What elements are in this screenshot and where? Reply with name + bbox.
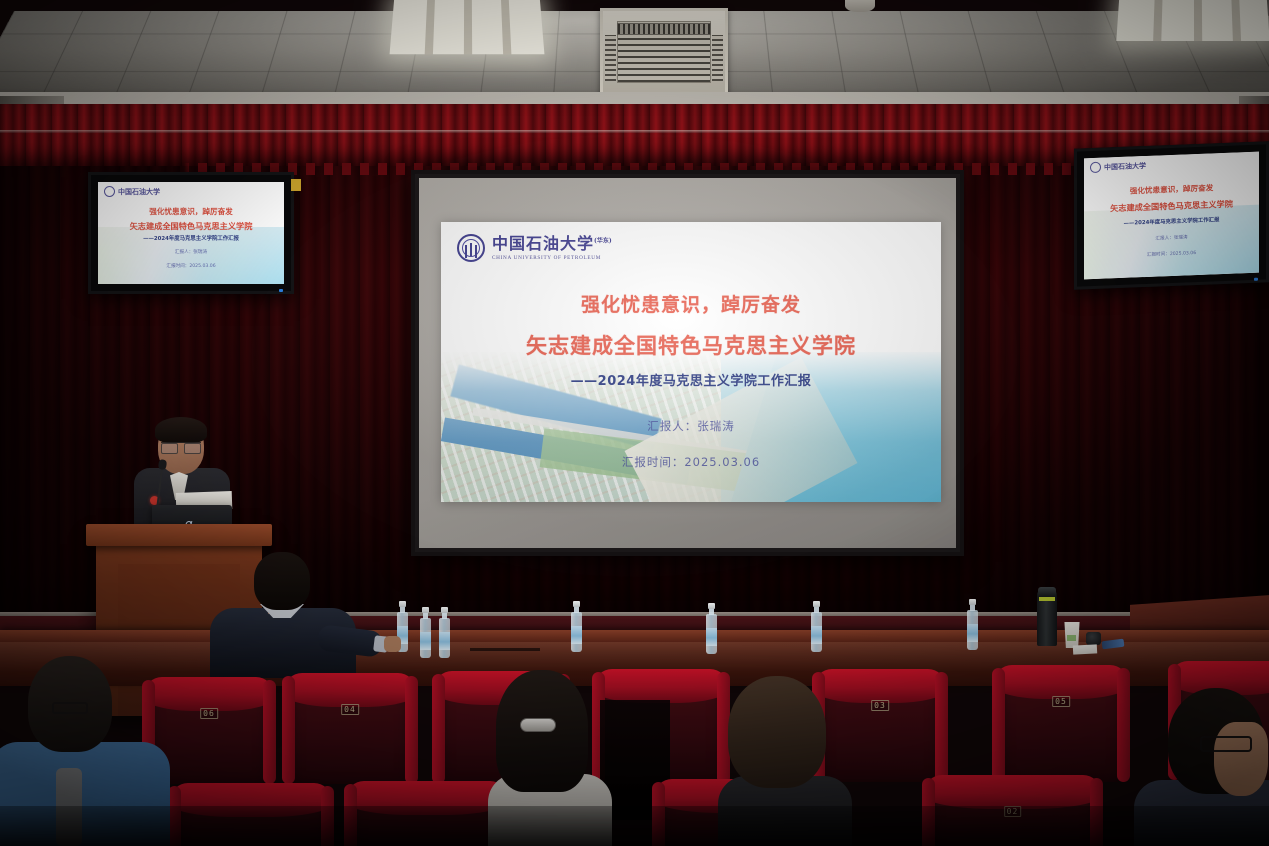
left-monitor-date: 汇报时间：2025.03.06 bbox=[98, 263, 284, 269]
left-monitor-title-1: 强化忧患意识，踔厉奋发 bbox=[98, 206, 284, 217]
left-monitor-title-2: 矢志建成全国特色马克思主义学院 bbox=[98, 220, 284, 232]
eyeglasses-icon bbox=[52, 702, 88, 714]
presentation-slide: 中国石油大学(华东) CHINA UNIVERSITY OF PETROLEUM… bbox=[441, 222, 941, 502]
water-bottle bbox=[571, 600, 582, 652]
slide-presenter: 汇报人：张瑞涛 bbox=[441, 418, 941, 434]
slide-title-line-2: 矢志建成全国特色马克思主义学院 bbox=[441, 330, 941, 360]
logo-english-name: CHINA UNIVERSITY OF PETROLEUM bbox=[492, 255, 612, 261]
seat-number: 05 bbox=[1052, 696, 1070, 707]
left-monitor-logo-text: 中国石油大学 bbox=[118, 187, 160, 197]
hair-clip-icon bbox=[520, 718, 556, 732]
seated-official bbox=[208, 552, 358, 672]
water-bottle bbox=[439, 606, 450, 658]
left-monitor-subtitle: ——2024年度马克思主义学院工作汇报 bbox=[98, 234, 284, 242]
ceiling-light-left bbox=[390, 0, 545, 54]
monitor-mount-bracket bbox=[291, 179, 301, 191]
right-monitor-logo: 中国石油大学 bbox=[1090, 160, 1146, 173]
audience-seat[interactable]: 05 bbox=[1000, 672, 1122, 782]
eyeglasses-icon bbox=[1200, 736, 1252, 752]
logo-cn-sup: (华东) bbox=[594, 237, 612, 244]
seat-number: 03 bbox=[871, 700, 889, 711]
face bbox=[1214, 722, 1268, 796]
left-side-monitor: 中国石油大学 强化忧患意识，踔厉奋发 矢志建成全国特色马克思主义学院 ——202… bbox=[88, 172, 294, 294]
monitor-power-led bbox=[279, 289, 283, 292]
speaker-hair bbox=[155, 417, 207, 443]
paper-cup bbox=[1063, 622, 1081, 648]
floor-shadow bbox=[0, 806, 1269, 846]
right-monitor-logo-text: 中国石油大学 bbox=[1104, 160, 1146, 172]
university-seal-icon bbox=[104, 186, 115, 197]
left-monitor-logo: 中国石油大学 bbox=[104, 186, 160, 197]
seat-number: 06 bbox=[200, 708, 218, 719]
table-seam bbox=[470, 648, 540, 651]
left-monitor-presenter: 汇报人：张瑞涛 bbox=[98, 249, 284, 255]
water-bottle bbox=[420, 606, 431, 658]
slide-title-line-1: 强化忧患意识，踔厉奋发 bbox=[441, 290, 941, 317]
right-side-monitor: 中国石油大学 强化忧患意识，踔厉奋发 矢志建成全国特色马克思主义学院 ——202… bbox=[1074, 141, 1269, 289]
water-bottle bbox=[811, 600, 822, 652]
left-monitor-screen: 中国石油大学 强化忧患意识，踔厉奋发 矢志建成全国特色马克思主义学院 ——202… bbox=[98, 182, 284, 284]
university-seal-icon bbox=[457, 234, 485, 262]
auditorium-scene: 中国石油大学(华东) CHINA UNIVERSITY OF PETROLEUM… bbox=[0, 0, 1269, 846]
head bbox=[254, 552, 310, 610]
smoke-detector-icon bbox=[845, 0, 875, 12]
camera-lens-cap bbox=[1086, 632, 1101, 645]
slide-date: 汇报时间：2025.03.06 bbox=[441, 454, 941, 470]
logo-chinese-name: 中国石油大学(华东) bbox=[492, 236, 612, 252]
thermos-flask bbox=[1037, 592, 1057, 646]
right-monitor-screen: 中国石油大学 强化忧患意识，踔厉奋发 矢志建成全国特色马克思主义学院 ——202… bbox=[1084, 152, 1259, 280]
hand bbox=[384, 636, 401, 652]
audience-member-head bbox=[728, 676, 826, 788]
water-bottle bbox=[706, 602, 717, 654]
university-logo: 中国石油大学(华东) CHINA UNIVERSITY OF PETROLEUM bbox=[457, 234, 612, 262]
audience-seat[interactable]: 04 bbox=[290, 680, 410, 784]
curtain-rail bbox=[0, 130, 1269, 133]
seat-number: 04 bbox=[341, 704, 359, 715]
monitor-power-led bbox=[1254, 278, 1258, 281]
water-bottle bbox=[967, 598, 978, 650]
university-seal-icon bbox=[1090, 162, 1101, 173]
podium-top-surface bbox=[86, 524, 272, 546]
eyeglasses-icon bbox=[161, 442, 201, 451]
projection-screen: 中国石油大学(华东) CHINA UNIVERSITY OF PETROLEUM… bbox=[411, 170, 964, 556]
napkin bbox=[1073, 644, 1097, 654]
ceiling-light-right bbox=[1116, 0, 1269, 41]
logo-cn-text: 中国石油大学 bbox=[492, 234, 594, 253]
slide-subtitle: ——2024年度马克思主义学院工作汇报 bbox=[441, 370, 941, 389]
ceiling-ac-vent bbox=[600, 8, 728, 96]
